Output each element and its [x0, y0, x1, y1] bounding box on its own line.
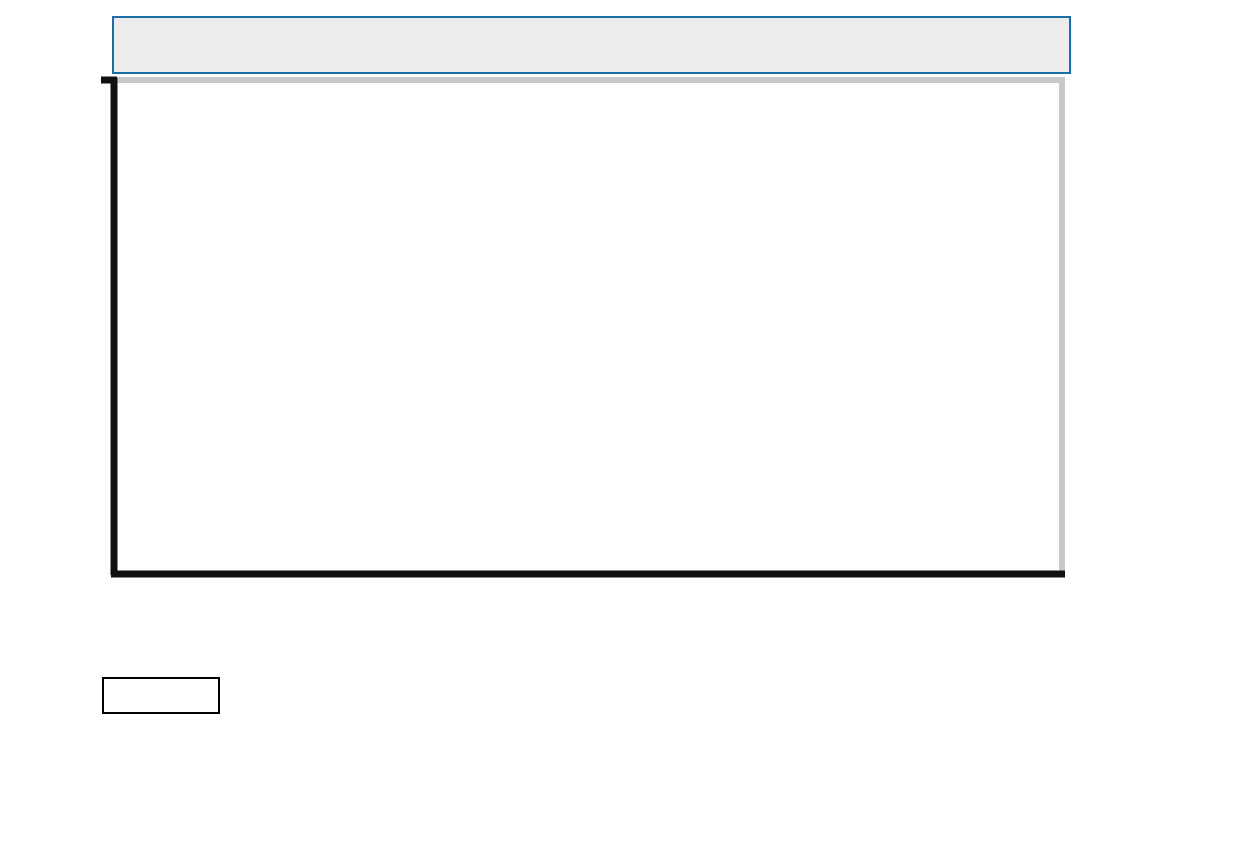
chart-axes — [101, 78, 1065, 575]
chart-plot-area — [0, 0, 1238, 640]
flow-table — [102, 677, 1072, 714]
plot-frame — [112, 80, 1065, 575]
flow-table-corner-header — [103, 678, 219, 713]
chart-title-bar — [112, 16, 1071, 74]
flow-table-header-row — [103, 678, 1072, 713]
